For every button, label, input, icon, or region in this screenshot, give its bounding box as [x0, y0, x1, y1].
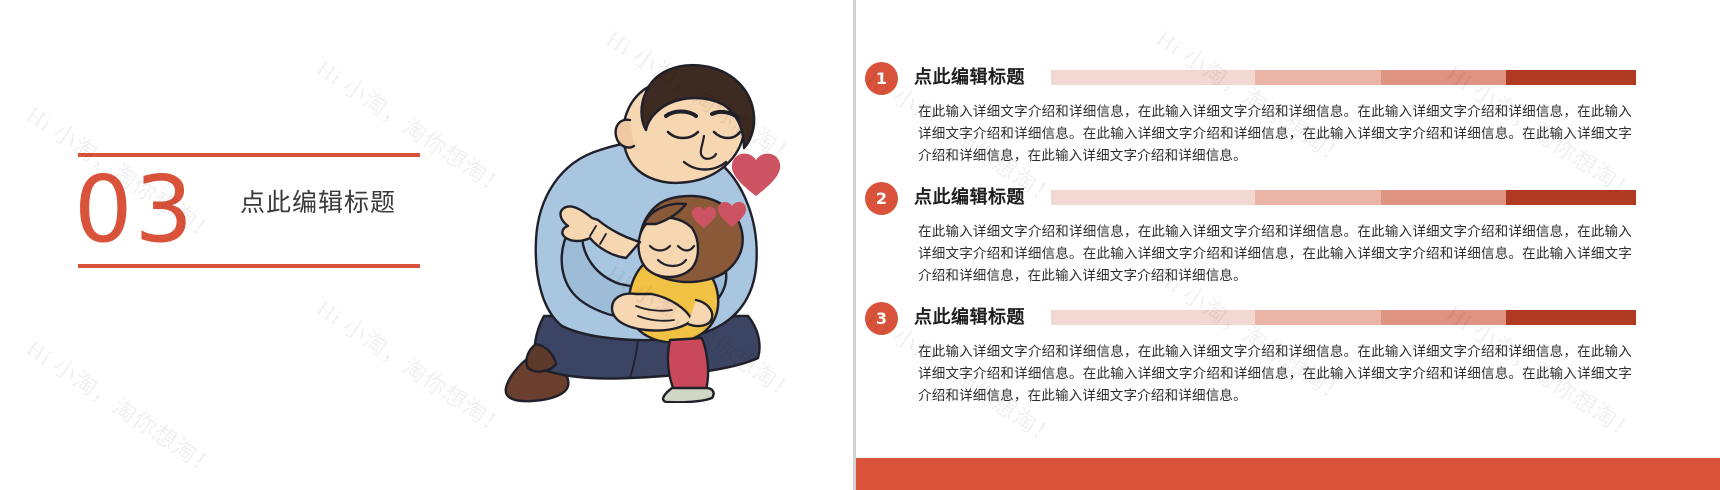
gradient-segment-2	[1255, 310, 1381, 325]
gradient-bar	[1051, 310, 1636, 325]
gradient-segment-4	[1506, 70, 1636, 85]
item-body-text: 在此输入详细文字介绍和详细信息，在此输入详细文字介绍和详细信息。在此输入详细文字…	[918, 101, 1632, 167]
gradient-bar	[1051, 190, 1636, 205]
right-panel: 1 点此编辑标题 在此输入详细文字介绍和详细信息，在此输入详细文字介绍和详细信息…	[856, 0, 1720, 490]
title-rule-bottom	[78, 264, 420, 268]
gradient-segment-4	[1506, 190, 1636, 205]
item-number-badge: 2	[865, 182, 898, 215]
father-hugging-child-illustration	[440, 58, 790, 403]
panel-divider	[853, 0, 856, 490]
gradient-segment-4	[1506, 310, 1636, 325]
item-number-badge: 3	[865, 302, 898, 335]
gradient-segment-3	[1381, 310, 1507, 325]
item-body-text: 在此输入详细文字介绍和详细信息，在此输入详细文字介绍和详细信息。在此输入详细文字…	[918, 341, 1632, 407]
slide-canvas: 03 点此编辑标题	[0, 0, 1720, 490]
gradient-segment-1	[1051, 70, 1255, 85]
gradient-segment-2	[1255, 70, 1381, 85]
item-number-badge: 1	[865, 62, 898, 95]
section-number: 03	[74, 160, 195, 260]
item-body-text: 在此输入详细文字介绍和详细信息，在此输入详细文字介绍和详细信息。在此输入详细文字…	[918, 221, 1632, 287]
gradient-segment-2	[1255, 190, 1381, 205]
gradient-segment-1	[1051, 190, 1255, 205]
section-title: 点此编辑标题	[240, 186, 396, 220]
gradient-segment-3	[1381, 190, 1507, 205]
gradient-segment-3	[1381, 70, 1507, 85]
gradient-bar	[1051, 70, 1636, 85]
item-title: 点此编辑标题	[914, 305, 1025, 331]
gradient-segment-1	[1051, 310, 1255, 325]
item-title: 点此编辑标题	[914, 65, 1025, 91]
item-title: 点此编辑标题	[914, 185, 1025, 211]
bottom-accent-bar	[856, 458, 1720, 490]
